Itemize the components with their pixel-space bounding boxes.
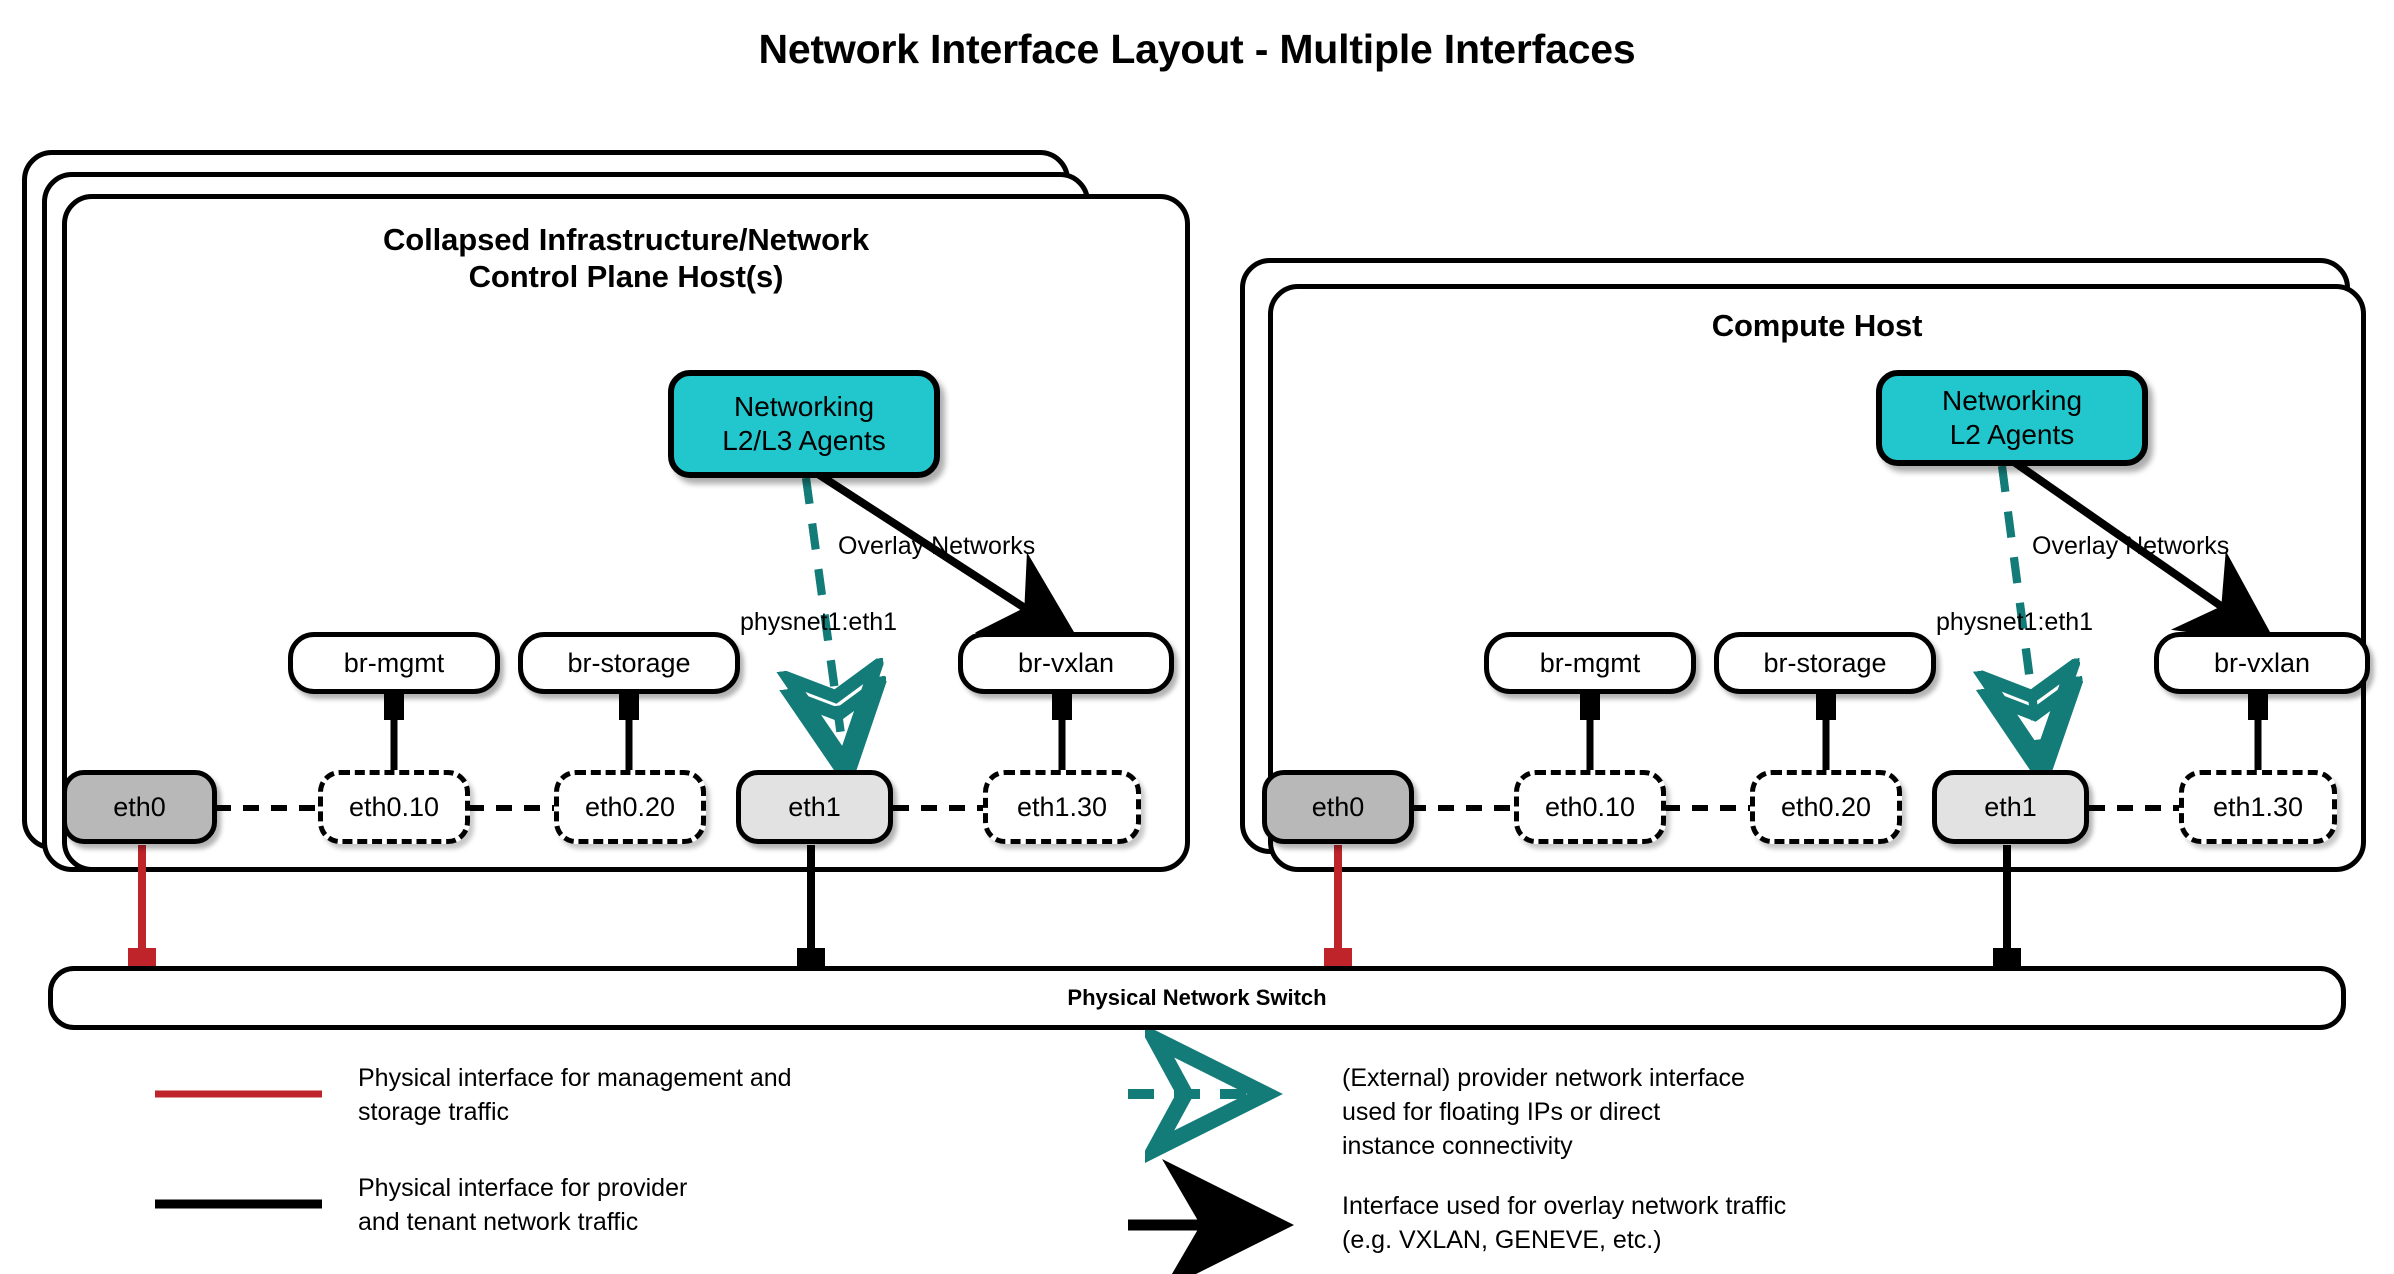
- bridge-br-storage-compute[interactable]: br-storage: [1714, 632, 1936, 694]
- agents-box-compute[interactable]: Networking L2 Agents: [1876, 370, 2148, 466]
- interface-eth1-30[interactable]: eth1.30: [983, 770, 1141, 844]
- agents-label-line-2: L2/L3 Agents: [722, 424, 885, 458]
- physical-network-switch[interactable]: Physical Network Switch: [48, 966, 2346, 1030]
- bridge-br-vxlan-compute[interactable]: br-vxlan: [2154, 632, 2370, 694]
- interface-label: eth1.30: [1017, 792, 1107, 823]
- bridge-label: br-storage: [567, 648, 690, 679]
- interface-eth1[interactable]: eth1: [736, 770, 893, 844]
- interface-eth0[interactable]: eth0: [62, 770, 217, 844]
- bridge-br-mgmt-compute[interactable]: br-mgmt: [1484, 632, 1696, 694]
- legend-item-mgmt-storage-text: Physical interface for management and st…: [358, 1062, 978, 1130]
- interface-eth1-compute[interactable]: eth1: [1932, 770, 2089, 844]
- interface-label: eth0: [1312, 792, 1365, 823]
- interface-label: eth0.10: [1545, 792, 1635, 823]
- bridge-label: br-mgmt: [1540, 648, 1641, 679]
- edge-label-overlay-networks: Overlay Networks: [838, 532, 1035, 561]
- switch-label: Physical Network Switch: [1067, 985, 1326, 1011]
- interface-label: eth0.20: [585, 792, 675, 823]
- interface-eth0-compute[interactable]: eth0: [1262, 770, 1414, 844]
- interface-eth0-20-compute[interactable]: eth0.20: [1750, 770, 1902, 844]
- diagram-root: Network Interface Layout - Multiple Inte…: [0, 0, 2394, 1274]
- legend-item-external-provider-text: (External) provider network interface us…: [1342, 1062, 2042, 1163]
- interface-label: eth0.10: [349, 792, 439, 823]
- edge-label-physnet-compute: physnet1:eth1: [1936, 608, 2093, 637]
- agents-label-line-1: Networking: [1942, 384, 2082, 418]
- interface-label: eth0.20: [1781, 792, 1871, 823]
- edge-label-physnet: physnet1:eth1: [740, 608, 897, 637]
- edge-label-overlay-networks-compute: Overlay Networks: [2032, 532, 2229, 561]
- bridge-br-mgmt[interactable]: br-mgmt: [288, 632, 500, 694]
- bridge-label: br-storage: [1763, 648, 1886, 679]
- interface-label: eth1.30: [2213, 792, 2303, 823]
- interface-label: eth1: [788, 792, 841, 823]
- bridge-label: br-vxlan: [2214, 648, 2310, 679]
- bridge-label: br-vxlan: [1018, 648, 1114, 679]
- agents-label-line-1: Networking: [734, 390, 874, 424]
- bridge-br-vxlan[interactable]: br-vxlan: [958, 632, 1174, 694]
- agents-label-line-2: L2 Agents: [1950, 418, 2075, 452]
- interface-eth1-30-compute[interactable]: eth1.30: [2179, 770, 2337, 844]
- interface-eth0-10[interactable]: eth0.10: [318, 770, 470, 844]
- bridge-label: br-mgmt: [344, 648, 445, 679]
- agents-box-control-plane[interactable]: Networking L2/L3 Agents: [668, 370, 940, 478]
- interface-label: eth0: [113, 792, 166, 823]
- bridge-br-storage[interactable]: br-storage: [518, 632, 740, 694]
- interface-eth0-20[interactable]: eth0.20: [554, 770, 706, 844]
- legend-item-provider-tenant-text: Physical interface for provider and tena…: [358, 1172, 978, 1240]
- interface-label: eth1: [1984, 792, 2037, 823]
- interface-eth0-10-compute[interactable]: eth0.10: [1514, 770, 1666, 844]
- legend-item-overlay-traffic-text: Interface used for overlay network traff…: [1342, 1190, 2102, 1258]
